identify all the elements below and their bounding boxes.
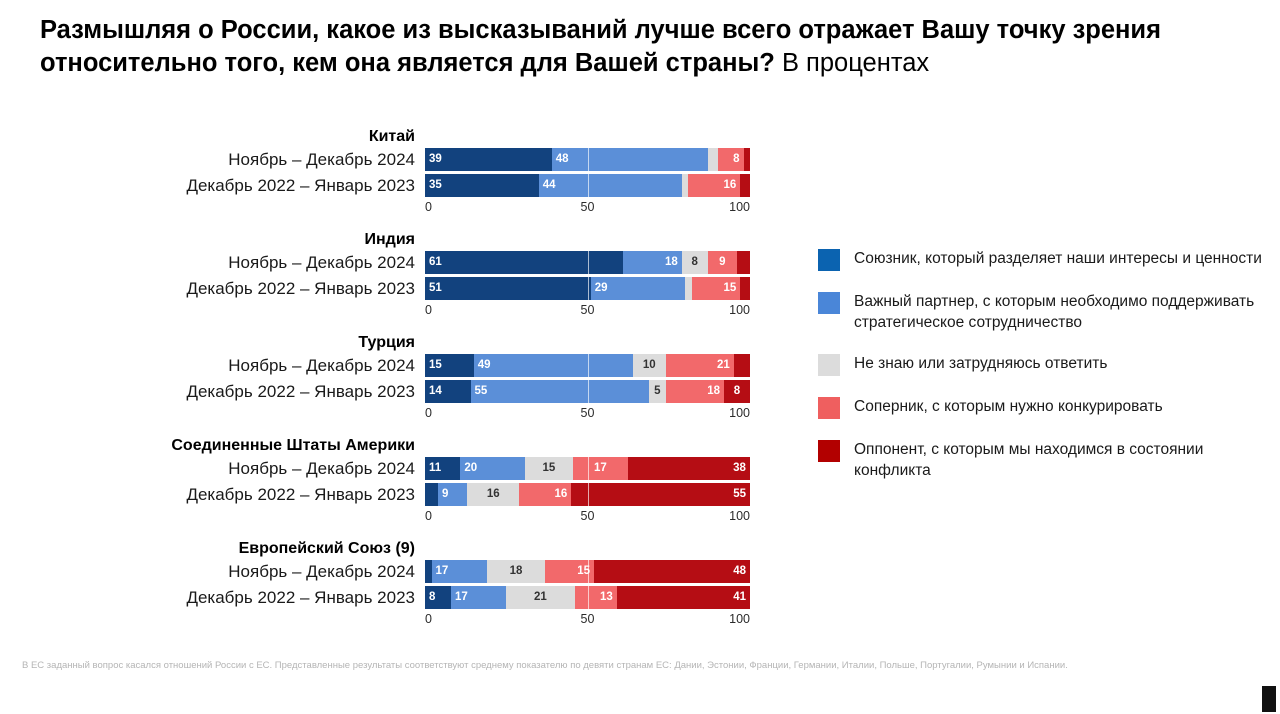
- chart-group: ИндияНоябрь – Декабрь 2024611889Декабрь …: [0, 231, 800, 320]
- bar-value-label: 55: [571, 489, 750, 501]
- chart-group: Европейский Союз (9)Ноябрь – Декабрь 202…: [0, 540, 800, 629]
- legend-label: Не знаю или затрудняюсь ответить: [854, 353, 1107, 374]
- legend-swatch-icon: [818, 292, 840, 314]
- stacked-bar-chart: КитайНоябрь – Декабрь 202439488Декабрь 2…: [0, 128, 800, 643]
- stacked-bar: 9161655: [425, 483, 750, 506]
- legend-label: Союзник, который разделяет наши интересы…: [854, 248, 1262, 269]
- bar-segment: 17: [432, 560, 487, 583]
- bar-segment: 55: [471, 380, 650, 403]
- bar-segment: 8: [724, 380, 750, 403]
- bar-value-label: 15: [692, 283, 741, 295]
- stacked-bar: 611889: [425, 251, 750, 274]
- bar-value-label: 17: [573, 463, 628, 475]
- corner-logo-mark: [1262, 686, 1276, 712]
- legend-swatch-icon: [818, 354, 840, 376]
- legend-item: Важный партнер, с которым необходимо под…: [818, 291, 1278, 333]
- bar-segment: 15: [425, 354, 474, 377]
- stacked-bar: 14555188: [425, 380, 750, 403]
- axis-tick-t0: 0: [425, 406, 432, 420]
- row-label: Декабрь 2022 – Январь 2023: [0, 382, 425, 402]
- stacked-bar: 39488: [425, 148, 750, 171]
- bar-segment: 15: [525, 457, 573, 480]
- bar-segment: 38: [628, 457, 750, 480]
- legend-label: Соперник, с которым нужно конкурировать: [854, 396, 1163, 417]
- page-title: Размышляя о России, какое из высказывани…: [40, 14, 1220, 80]
- bar-segment: 9: [708, 251, 737, 274]
- x-axis: 050100: [425, 509, 750, 526]
- gridline-50: [588, 277, 589, 300]
- gridline-50: [588, 560, 589, 583]
- row-label: Декабрь 2022 – Январь 2023: [0, 485, 425, 505]
- bar-segment: 18: [623, 251, 682, 274]
- row-label: Ноябрь – Декабрь 2024: [0, 150, 425, 170]
- bar-value-label: 5: [649, 386, 665, 398]
- bar-segment: 18: [666, 380, 725, 403]
- axis-tick-t0: 0: [425, 612, 432, 626]
- bar-value-label: 49: [474, 360, 633, 372]
- bar-value-label: 8: [425, 592, 451, 604]
- axis-tick-t50: 50: [581, 612, 595, 626]
- gridline-50: [588, 380, 589, 403]
- footnote: В ЕС заданный вопрос касался отношений Р…: [22, 658, 1222, 673]
- bar-value-label: 29: [591, 283, 685, 295]
- bar-value-label: 18: [666, 386, 725, 398]
- chart-legend: Союзник, который разделяет наши интересы…: [818, 248, 1278, 501]
- bar-value-label: 21: [506, 592, 574, 604]
- bar-segment: [425, 483, 438, 506]
- axis-tick-t50: 50: [581, 303, 595, 317]
- bar-segment: 17: [573, 457, 628, 480]
- group-title: Турция: [0, 334, 425, 352]
- bar-segment: 16: [519, 483, 571, 506]
- bar-segment: 16: [688, 174, 740, 197]
- axis-tick-t0: 0: [425, 303, 432, 317]
- axis-tick-t0: 0: [425, 200, 432, 214]
- chart-row: Декабрь 2022 – Январь 2023817211341: [0, 586, 800, 609]
- bar-value-label: 18: [623, 257, 682, 269]
- bar-value-label: 48: [594, 566, 750, 578]
- gridline-50: [588, 354, 589, 377]
- bar-value-label: 16: [467, 489, 519, 501]
- chart-row: Декабрь 2022 – Январь 20239161655: [0, 483, 800, 506]
- x-axis: 050100: [425, 200, 750, 217]
- row-label: Ноябрь – Декабрь 2024: [0, 253, 425, 273]
- bar-value-label: 13: [575, 592, 617, 604]
- bar-segment: 17: [451, 586, 506, 609]
- bar-segment: [708, 148, 718, 171]
- chart-group: КитайНоябрь – Декабрь 202439488Декабрь 2…: [0, 128, 800, 217]
- bar-value-label: 44: [539, 180, 682, 192]
- bar-segment: 21: [506, 586, 574, 609]
- legend-swatch-icon: [818, 249, 840, 271]
- bar-segment: 5: [649, 380, 665, 403]
- bar-segment: 15: [692, 277, 741, 300]
- chart-group: ТурцияНоябрь – Декабрь 202415491021Декаб…: [0, 334, 800, 423]
- bar-value-label: 16: [519, 489, 571, 501]
- bar-value-label: 11: [425, 463, 460, 475]
- bar-value-label: 21: [666, 360, 734, 372]
- bar-value-label: 8: [682, 257, 708, 269]
- bar-segment: 13: [575, 586, 617, 609]
- legend-item: Соперник, с которым нужно конкурировать: [818, 396, 1278, 419]
- bar-value-label: 17: [451, 592, 506, 604]
- legend-item: Оппонент, с которым мы находимся в состо…: [818, 439, 1278, 481]
- bar-value-label: 10: [633, 360, 666, 372]
- axis-tick-t100: 100: [729, 303, 750, 317]
- chart-row: Декабрь 2022 – Январь 2023354416: [0, 174, 800, 197]
- gridline-50: [588, 174, 589, 197]
- bar-value-label: 55: [471, 386, 650, 398]
- row-label: Декабрь 2022 – Январь 2023: [0, 279, 425, 299]
- bar-segment: 35: [425, 174, 539, 197]
- bar-value-label: 35: [425, 180, 539, 192]
- legend-label: Важный партнер, с которым необходимо под…: [854, 291, 1278, 333]
- bar-value-label: 15: [425, 360, 474, 372]
- bar-segment: 8: [682, 251, 708, 274]
- gridline-50: [588, 148, 589, 171]
- bar-value-label: 20: [460, 463, 524, 475]
- bar-value-label: 8: [724, 386, 750, 398]
- bar-segment: 14: [425, 380, 471, 403]
- group-title: Китай: [0, 128, 425, 146]
- axis-tick-t50: 50: [581, 509, 595, 523]
- bar-segment: 51: [425, 277, 591, 300]
- row-label: Ноябрь – Декабрь 2024: [0, 562, 425, 582]
- gridline-50: [588, 457, 589, 480]
- row-label: Декабрь 2022 – Январь 2023: [0, 588, 425, 608]
- bar-value-label: 51: [425, 283, 591, 295]
- stacked-bar: 512915: [425, 277, 750, 300]
- bar-segment: [744, 148, 751, 171]
- bar-value-label: 14: [425, 386, 471, 398]
- stacked-bar: 817211341: [425, 586, 750, 609]
- row-label: Ноябрь – Декабрь 2024: [0, 356, 425, 376]
- chart-row: Ноябрь – Декабрь 2024611889: [0, 251, 800, 274]
- bar-value-label: 9: [708, 257, 737, 269]
- chart-row: Ноябрь – Декабрь 20241120151738: [0, 457, 800, 480]
- axis-tick-t100: 100: [729, 406, 750, 420]
- title-subtitle: В процентах: [782, 49, 929, 77]
- bar-segment: 16: [467, 483, 519, 506]
- legend-swatch-icon: [818, 397, 840, 419]
- legend-swatch-icon: [818, 440, 840, 462]
- bar-segment: 29: [591, 277, 685, 300]
- stacked-bar: 354416: [425, 174, 750, 197]
- bar-value-label: 9: [438, 489, 467, 501]
- bar-value-label: 39: [425, 154, 552, 166]
- bar-value-label: 17: [432, 566, 487, 578]
- legend-label: Оппонент, с которым мы находимся в состо…: [854, 439, 1278, 481]
- bar-segment: 11: [425, 457, 460, 480]
- row-label: Декабрь 2022 – Январь 2023: [0, 176, 425, 196]
- bar-value-label: 18: [487, 566, 546, 578]
- bar-segment: [734, 354, 750, 377]
- axis-tick-t100: 100: [729, 200, 750, 214]
- bar-segment: 48: [552, 148, 708, 171]
- chart-row: Декабрь 2022 – Январь 202314555188: [0, 380, 800, 403]
- axis-tick-t0: 0: [425, 509, 432, 523]
- bar-segment: 18: [487, 560, 546, 583]
- x-axis: 050100: [425, 612, 750, 629]
- axis-tick-t50: 50: [581, 406, 595, 420]
- bar-segment: 55: [571, 483, 750, 506]
- group-title: Индия: [0, 231, 425, 249]
- axis-tick-t100: 100: [729, 612, 750, 626]
- bar-value-label: 48: [552, 154, 708, 166]
- chart-row: Ноябрь – Декабрь 202415491021: [0, 354, 800, 377]
- group-title: Соединенные Штаты Америки: [0, 437, 425, 455]
- bar-segment: 44: [539, 174, 682, 197]
- bar-segment: 9: [438, 483, 467, 506]
- bar-segment: 8: [718, 148, 744, 171]
- x-axis: 050100: [425, 406, 750, 423]
- bar-value-label: 15: [525, 463, 573, 475]
- bar-segment: 49: [474, 354, 633, 377]
- bar-segment: 10: [633, 354, 666, 377]
- bar-segment: 21: [666, 354, 734, 377]
- stacked-bar: 1120151738: [425, 457, 750, 480]
- bar-segment: [737, 251, 750, 274]
- axis-tick-t100: 100: [729, 509, 750, 523]
- stacked-bar: 15491021: [425, 354, 750, 377]
- gridline-50: [588, 483, 589, 506]
- chart-row: Ноябрь – Декабрь 202439488: [0, 148, 800, 171]
- axis-tick-t50: 50: [581, 200, 595, 214]
- group-title: Европейский Союз (9): [0, 540, 425, 558]
- stacked-bar: 17181548: [425, 560, 750, 583]
- x-axis: 050100: [425, 303, 750, 320]
- bar-segment: 39: [425, 148, 552, 171]
- chart-row: Декабрь 2022 – Январь 2023512915: [0, 277, 800, 300]
- bar-value-label: 61: [425, 257, 623, 269]
- bar-value-label: 8: [718, 154, 744, 166]
- bar-segment: 41: [617, 586, 750, 609]
- chart-row: Ноябрь – Декабрь 202417181548: [0, 560, 800, 583]
- bar-segment: [740, 174, 750, 197]
- bar-segment: 20: [460, 457, 524, 480]
- bar-value-label: 16: [688, 180, 740, 192]
- gridline-50: [588, 586, 589, 609]
- bar-value-label: 38: [628, 463, 750, 475]
- title-main: Размышляя о России, какое из высказывани…: [40, 16, 1161, 77]
- gridline-50: [588, 251, 589, 274]
- bar-value-label: 41: [617, 592, 750, 604]
- bar-segment: 61: [425, 251, 623, 274]
- row-label: Ноябрь – Декабрь 2024: [0, 459, 425, 479]
- chart-group: Соединенные Штаты АмерикиНоябрь – Декабр…: [0, 437, 800, 526]
- bar-segment: [740, 277, 750, 300]
- legend-item: Союзник, который разделяет наши интересы…: [818, 248, 1278, 271]
- bar-segment: 48: [594, 560, 750, 583]
- bar-segment: 8: [425, 586, 451, 609]
- legend-item: Не знаю или затрудняюсь ответить: [818, 353, 1278, 376]
